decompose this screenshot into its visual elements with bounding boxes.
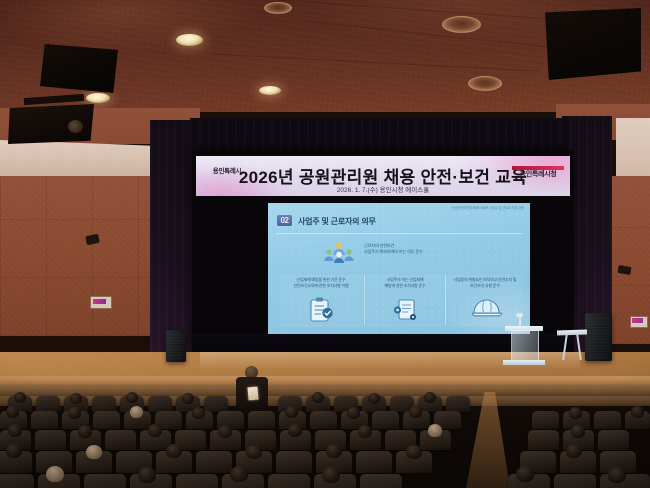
ceiling-downlight xyxy=(259,86,281,95)
wall-light-band-left xyxy=(0,140,150,180)
logo-yongin-city-right: 용인특례시청 xyxy=(512,166,564,178)
side-table xyxy=(557,329,587,335)
attendee-head xyxy=(571,425,585,438)
attendee-head xyxy=(608,467,626,483)
ceiling-downlight xyxy=(86,93,110,103)
seat xyxy=(360,474,402,488)
acrylic-lectern xyxy=(511,330,539,364)
wall-texture-left xyxy=(0,176,152,336)
slide-top-right-note: 산업안전보건법 제5조·제6조 사업주 및 근로자 의무 규정 xyxy=(451,205,524,210)
seat xyxy=(84,474,126,488)
attendee-head xyxy=(566,444,582,458)
duty-card-2-text: 사업주가 하는 산업재해 예방에 관한 조치사항 준수 xyxy=(366,277,444,289)
card2-line-2: 예방에 관한 조치사항 준수 xyxy=(366,283,444,289)
attendee-head xyxy=(6,406,19,418)
clipboard-checklist-svg xyxy=(308,297,336,323)
intro-line-2: 사업주가 확보하여야 하는 의무 준수 xyxy=(364,249,494,255)
attendee-head xyxy=(246,445,262,459)
slide-intro-text: 근로자의 안전보건 사업주가 확보하여야 하는 의무 준수 xyxy=(364,243,494,256)
attendee-head xyxy=(6,444,22,458)
attendee-head xyxy=(358,425,372,438)
attendee-head xyxy=(424,392,436,403)
attendee-head xyxy=(182,393,194,404)
projector-lens xyxy=(68,120,83,133)
slide-section-number: 02 xyxy=(277,215,292,226)
seat-row xyxy=(0,466,650,488)
banner-subtitle: 2026. 1. 7.(수) 용인시청 에이스홀 xyxy=(196,184,570,194)
stage-step xyxy=(0,376,650,386)
duty-card-2: 사업주가 하는 산업재해 예방에 관한 조치사항 준수 xyxy=(366,275,444,327)
attendee-head xyxy=(166,444,182,458)
document-gear-icon xyxy=(392,297,420,323)
safety-helmet-svg xyxy=(471,295,503,321)
clipboard-checklist-icon xyxy=(308,297,336,323)
card3-line-2: 보건조치 사항 준수 xyxy=(447,283,523,289)
ceiling-ring-fixture xyxy=(468,76,502,91)
lectern-base xyxy=(503,360,545,365)
attendee-head xyxy=(409,406,422,418)
card-separator xyxy=(364,275,365,325)
safety-helmet-icon xyxy=(471,295,503,321)
attendee-head xyxy=(230,466,248,482)
seat xyxy=(176,474,218,488)
attendee-head xyxy=(322,467,340,483)
floor-speaker-left xyxy=(166,330,186,362)
people-group-svg xyxy=(322,241,356,265)
attendee-head xyxy=(192,407,205,419)
attendee-head xyxy=(46,466,64,482)
slide-divider xyxy=(276,233,522,234)
speaker-grill xyxy=(169,333,183,359)
attendee-head xyxy=(68,407,81,419)
gooseneck-microphone xyxy=(519,316,521,327)
slide-heading: 사업주 및 근로자의 의무 xyxy=(298,216,376,227)
attendee-head xyxy=(126,392,138,403)
attendee-head xyxy=(288,424,302,437)
attendee-head xyxy=(70,393,82,404)
attendee-head xyxy=(516,466,534,482)
ceiling-speaker-left xyxy=(40,44,118,93)
logo-right-label: 용인특례시청 xyxy=(512,171,564,178)
attendee-head xyxy=(78,425,92,438)
attendee-head xyxy=(285,406,298,418)
duty-card-1-text: 산업재해 예방을 위한 기준 준수 안전보건교육에 관한 조치사항 이행 xyxy=(280,277,362,289)
attendee-head xyxy=(569,407,582,419)
attendee-head xyxy=(86,445,102,459)
microphone-head xyxy=(516,313,523,317)
ceiling-downlight xyxy=(176,34,203,46)
wall-outlet-indicator xyxy=(93,299,106,304)
card-separator xyxy=(445,275,446,325)
ceiling-speaker-right xyxy=(545,8,641,80)
attendee-head xyxy=(8,424,22,437)
attendee-head xyxy=(148,424,162,437)
duty-card-1: 산업재해 예방을 위한 기준 준수 안전보건교육에 관한 조치사항 이행 xyxy=(280,275,362,327)
attendee-head xyxy=(14,392,26,403)
seat xyxy=(268,474,310,488)
attendee-head xyxy=(406,445,422,459)
presentation-slide: 산업안전보건법 제5조·제6조 사업주 및 근로자 의무 규정 02 사업주 및… xyxy=(268,203,530,334)
speaker-grill xyxy=(588,316,609,358)
seat xyxy=(554,474,596,488)
floor-speaker-right xyxy=(585,313,612,361)
wall-outlet-indicator xyxy=(632,318,643,323)
attendee-head xyxy=(631,406,644,418)
ceiling-ring-fixture xyxy=(264,2,292,14)
attendee-head xyxy=(347,407,360,419)
card1-line-2: 안전보건교육에 관한 조치사항 이행 xyxy=(280,283,362,289)
ceiling-ring-fixture xyxy=(442,16,481,33)
attendee-head xyxy=(312,392,324,403)
attendee-head xyxy=(130,406,143,418)
attendee-head xyxy=(326,444,342,458)
attendee-head xyxy=(368,393,380,404)
duty-card-3: 사업장의 위험요인 파악하고 안전조치 및 보건조치 사항 준수 xyxy=(447,275,523,327)
document-gear-svg xyxy=(392,297,420,323)
duty-card-3-text: 사업장의 위험요인 파악하고 안전조치 및 보건조치 사항 준수 xyxy=(447,277,523,289)
logo-accent-bar xyxy=(512,166,564,170)
auditorium-photo: 용인특례시 2026년 공원관리원 채용 안전·보건 교육 2026. 1. 7… xyxy=(0,0,650,488)
attendee-head xyxy=(428,424,442,437)
event-banner: 용인특례시 2026년 공원관리원 채용 안전·보건 교육 2026. 1. 7… xyxy=(196,156,570,196)
people-group-icon xyxy=(322,241,356,265)
seat xyxy=(0,474,34,488)
attendee-head xyxy=(138,467,156,483)
attendee-head xyxy=(218,425,232,438)
